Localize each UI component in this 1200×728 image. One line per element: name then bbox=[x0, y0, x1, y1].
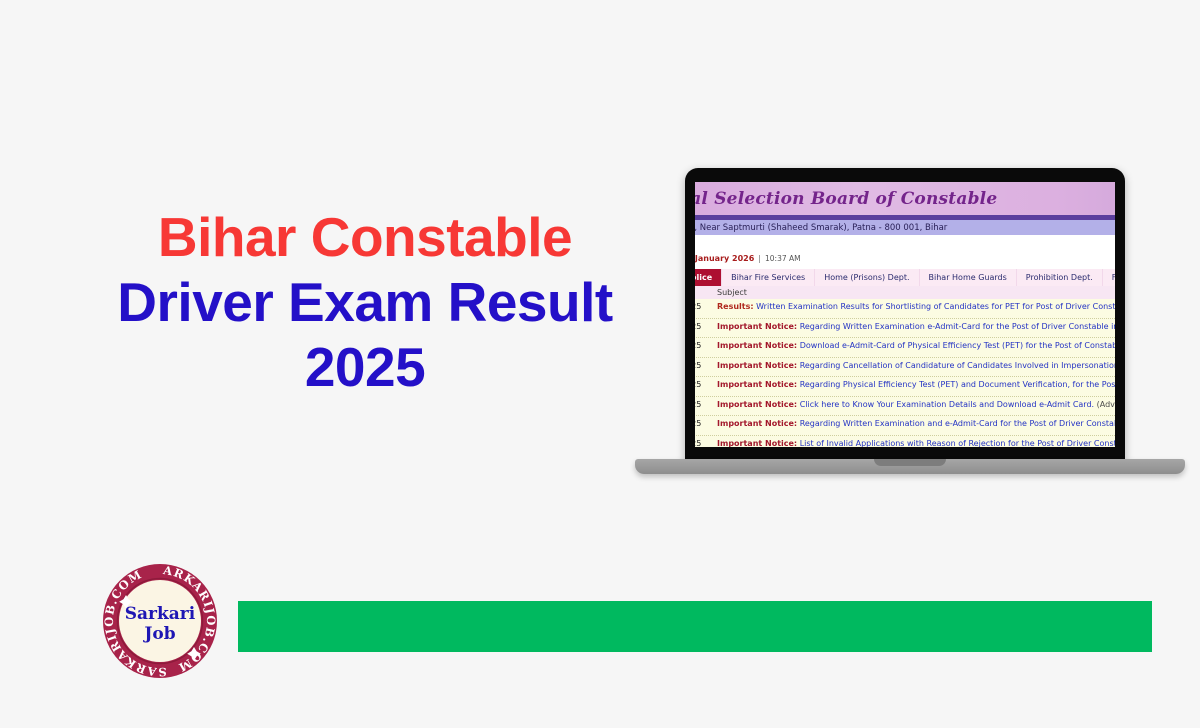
sarkarijob-logo-svg: SARKARIJOB.COM SARKARIJOB.COM Sarkari Jo… bbox=[99, 560, 221, 682]
row-subject[interactable]: Important Notice: Click here to Know You… bbox=[717, 397, 1115, 409]
column-header-subject: Subject bbox=[717, 288, 1115, 297]
column-header-date: ate bbox=[695, 288, 717, 297]
site-address: Road, Near Saptmurti (Shaheed Smarak), P… bbox=[695, 220, 1115, 235]
headline-line-2: Driver Exam Result bbox=[60, 270, 670, 335]
row-advt: (Advt. No. 02/2025) bbox=[1097, 400, 1115, 409]
table-row[interactable]: 1-2025 Important Notice: List of Invalid… bbox=[695, 436, 1115, 448]
row-date: 1-2025 bbox=[695, 416, 717, 428]
site-tab-bar[interactable]: ar Police Bihar Fire Services Home (Pris… bbox=[695, 269, 1115, 286]
row-date: 1-2025 bbox=[695, 397, 717, 409]
row-tag: Important Notice: bbox=[717, 400, 797, 409]
sarkarijob-logo[interactable]: SARKARIJOB.COM SARKARIJOB.COM Sarkari Jo… bbox=[99, 560, 221, 682]
row-tag: Important Notice: bbox=[717, 419, 797, 428]
laptop-screen: tral Selection Board of Constable Road, … bbox=[695, 182, 1115, 447]
row-tag: Important Notice: bbox=[717, 322, 797, 331]
row-subject-text[interactable]: List of Invalid Applications with Reason… bbox=[800, 439, 1115, 448]
laptop-lid: tral Selection Board of Constable Road, … bbox=[685, 168, 1125, 463]
row-tag: Important Notice: bbox=[717, 380, 797, 389]
site-spacer bbox=[695, 235, 1115, 251]
row-subject-text[interactable]: Click here to Know Your Examination Deta… bbox=[800, 400, 1094, 409]
table-row[interactable]: 1-2025 Important Notice: Regarding Cance… bbox=[695, 358, 1115, 378]
row-subject-text[interactable]: Regarding Written Examination e-Admit-Ca… bbox=[800, 322, 1115, 331]
table-row[interactable]: 2-2025 Important Notice: Regarding Writt… bbox=[695, 319, 1115, 339]
website-content: tral Selection Board of Constable Road, … bbox=[695, 182, 1115, 447]
row-tag: Important Notice: bbox=[717, 361, 797, 370]
site-datetime: y 09 January 2026 | 10:37 AM bbox=[695, 251, 1115, 265]
row-tag: Important Notice: bbox=[717, 439, 797, 448]
row-tag: Results: bbox=[717, 302, 754, 311]
laptop-mockup: tral Selection Board of Constable Road, … bbox=[630, 168, 1190, 488]
site-tab-forest-dept[interactable]: Forest Dept. bbox=[1103, 269, 1115, 286]
row-date: 1-2025 bbox=[695, 436, 717, 448]
row-date: 1-2025 bbox=[695, 377, 717, 389]
row-subject-text[interactable]: Download e-Admit-Card of Physical Effici… bbox=[800, 341, 1115, 350]
site-tab-bihar-police[interactable]: ar Police bbox=[695, 269, 722, 286]
headline-line-1: Bihar Constable bbox=[60, 205, 670, 270]
site-tab-home-prisons-dept[interactable]: Home (Prisons) Dept. bbox=[815, 269, 919, 286]
row-subject[interactable]: Important Notice: Regarding Written Exam… bbox=[717, 319, 1115, 331]
site-tab-prohibition-dept[interactable]: Prohibition Dept. bbox=[1017, 269, 1103, 286]
row-date: 2-2025 bbox=[695, 299, 717, 311]
site-date-separator: | bbox=[758, 254, 761, 263]
row-subject-text[interactable]: Regarding Written Examination and e-Admi… bbox=[800, 419, 1115, 428]
row-date: 1-2025 bbox=[695, 358, 717, 370]
row-tag: Important Notice: bbox=[717, 341, 797, 350]
headline-line-3: 2025 bbox=[60, 335, 670, 400]
table-row[interactable]: 1-2025 Important Notice: Regarding Writt… bbox=[695, 416, 1115, 436]
row-subject[interactable]: Important Notice: Download e-Admit-Card … bbox=[717, 338, 1115, 350]
table-row[interactable]: 1-2025 Important Notice: Regarding Physi… bbox=[695, 377, 1115, 397]
table-row[interactable]: 1-2025 Important Notice: Click here to K… bbox=[695, 397, 1115, 417]
row-subject-text[interactable]: Written Examination Results for Shortlis… bbox=[756, 302, 1115, 311]
row-subject-text[interactable]: Regarding Cancellation of Candidature of… bbox=[800, 361, 1115, 370]
site-banner: tral Selection Board of Constable bbox=[695, 182, 1115, 215]
table-row[interactable]: 1-2025 Important Notice: Download e-Admi… bbox=[695, 338, 1115, 358]
table-row[interactable]: 2-2025 Results: Written Examination Resu… bbox=[695, 299, 1115, 319]
row-date: 2-2025 bbox=[695, 319, 717, 331]
laptop-base-notch bbox=[874, 459, 946, 466]
row-date: 1-2025 bbox=[695, 338, 717, 350]
badge-center-line1: Sarkari bbox=[125, 604, 196, 624]
row-subject[interactable]: Important Notice: List of Invalid Applic… bbox=[717, 436, 1115, 448]
row-subject[interactable]: Results: Written Examination Results for… bbox=[717, 299, 1115, 311]
notice-table-body: 2-2025 Results: Written Examination Resu… bbox=[695, 299, 1115, 447]
site-time-text: 10:37 AM bbox=[765, 254, 801, 263]
green-banner-bar bbox=[238, 601, 1152, 652]
site-date-text: y 09 January 2026 bbox=[695, 254, 754, 263]
headline-block: Bihar Constable Driver Exam Result 2025 bbox=[60, 205, 670, 400]
row-subject[interactable]: Important Notice: Regarding Physical Eff… bbox=[717, 377, 1115, 389]
row-subject[interactable]: Important Notice: Regarding Cancellation… bbox=[717, 358, 1115, 370]
notice-table-header: ate Subject bbox=[695, 286, 1115, 299]
site-tab-bihar-fire-services[interactable]: Bihar Fire Services bbox=[722, 269, 815, 286]
site-tab-bihar-home-guards[interactable]: Bihar Home Guards bbox=[920, 269, 1017, 286]
site-banner-title: tral Selection Board of Constable bbox=[695, 189, 997, 209]
badge-center-line2: Job bbox=[142, 624, 175, 644]
row-subject[interactable]: Important Notice: Regarding Written Exam… bbox=[717, 416, 1115, 428]
row-subject-text[interactable]: Regarding Physical Efficiency Test (PET)… bbox=[800, 380, 1115, 389]
